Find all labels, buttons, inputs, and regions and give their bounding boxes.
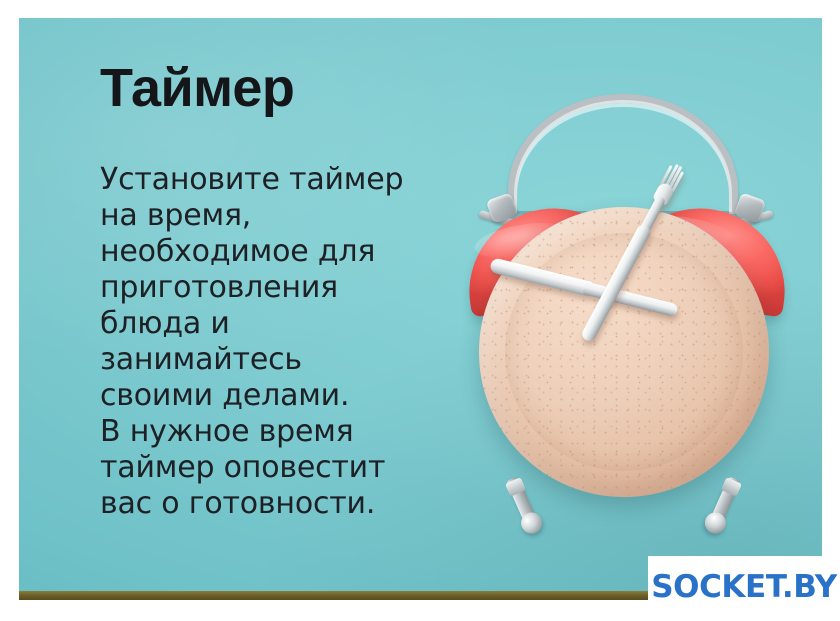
alarm-clock-foot-left (504, 475, 545, 539)
description-line: на время, (100, 198, 440, 234)
description-line: В нужное время (100, 414, 440, 450)
page-title: Таймер (100, 60, 440, 116)
description-line: Установите таймер (100, 162, 440, 198)
site-logo-badge[interactable]: SOCKET.BY (648, 556, 840, 621)
description-line: необходимое для (100, 234, 440, 270)
alarm-clock-illustration (430, 94, 820, 574)
description-line: занимайтесь (100, 342, 440, 378)
description-paragraph: Установите таймер на время, необходимое … (100, 162, 440, 522)
alarm-clock-foot-right (702, 475, 743, 539)
description-line: блюда и (100, 306, 440, 342)
description-line: вас о готовности. (100, 486, 440, 522)
text-column: Таймер Установите таймер на время, необх… (100, 60, 440, 522)
slide-root: Таймер Установите таймер на время, необх… (0, 0, 840, 621)
alarm-clock-handle-icon (508, 94, 738, 214)
description-line: своими делами. (100, 378, 440, 414)
description-line: таймер оповестит (100, 450, 440, 486)
hero-photo: Таймер Установите таймер на время, необх… (19, 18, 822, 600)
site-logo-text: SOCKET.BY (651, 572, 837, 605)
description-line: приготовления (100, 270, 440, 306)
